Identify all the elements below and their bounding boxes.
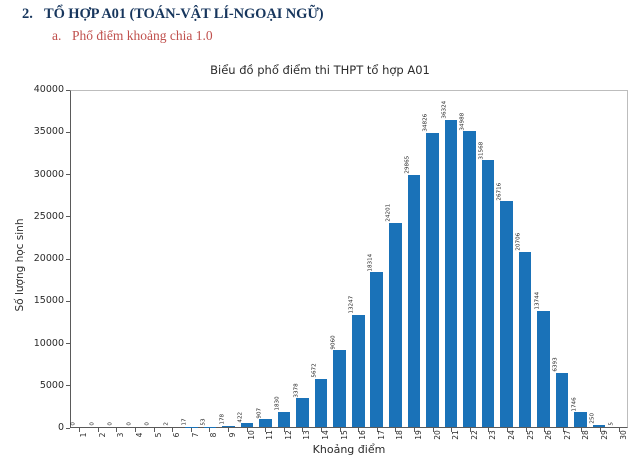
y-axis-tick-label: 15000 bbox=[34, 295, 64, 306]
x-axis-label: Khoảng điểm bbox=[70, 443, 628, 456]
heading-main-number: 2. bbox=[22, 6, 44, 23]
x-axis-tick-mark bbox=[172, 428, 173, 432]
x-axis-tick-label: 18 bbox=[395, 430, 404, 440]
bar-series: 0000021753178422907183033785672906013247… bbox=[71, 91, 627, 427]
document-heading: 2. TỔ HỢP A01 (TOÁN-VẬT LÍ-NGOẠI NGỮ) a.… bbox=[0, 0, 640, 44]
bar-slot: 422 bbox=[238, 91, 257, 427]
bar[interactable]: 34988 bbox=[463, 131, 476, 427]
bar[interactable]: 20706 bbox=[519, 252, 532, 427]
bar-value-label: 34988 bbox=[464, 121, 470, 139]
x-axis-tick-label: 27 bbox=[563, 430, 572, 440]
x-axis-tick-label: 4 bbox=[135, 433, 144, 438]
x-axis-tick-label: 2 bbox=[98, 433, 107, 438]
bar-value-label: 13744 bbox=[538, 301, 544, 319]
bar-slot: 5672 bbox=[312, 91, 331, 427]
bar[interactable]: 178 bbox=[222, 426, 235, 428]
bar[interactable]: 422 bbox=[241, 423, 254, 427]
bar-value-label: 9060 bbox=[334, 342, 340, 356]
bar-value-label: 6393 bbox=[556, 365, 562, 379]
bar-value-label: 907 bbox=[260, 413, 266, 424]
x-axis-tick-label: 28 bbox=[581, 430, 590, 440]
x-axis-tick-mark bbox=[154, 428, 155, 432]
bar[interactable]: 24201 bbox=[389, 223, 402, 427]
bar[interactable]: 18314 bbox=[370, 272, 383, 427]
bar-slot: 1746 bbox=[571, 91, 590, 427]
x-axis-tick-mark bbox=[116, 428, 117, 432]
x-axis-tick-label: 30 bbox=[619, 430, 628, 440]
x-axis-tick-label: 15 bbox=[340, 430, 349, 440]
bar[interactable]: 6393 bbox=[556, 373, 569, 427]
bar-chart: Biểu đồ phổ điểm thi THPT tổ hợp A01 Số … bbox=[0, 58, 640, 465]
bar-slot: 6393 bbox=[553, 91, 572, 427]
bar-slot: 53 bbox=[201, 91, 220, 427]
bar-slot: 9060 bbox=[330, 91, 349, 427]
y-axis-tick-label: 5000 bbox=[40, 380, 64, 391]
y-axis-tick-label: 10000 bbox=[34, 338, 64, 349]
x-axis-tick-label: 7 bbox=[191, 433, 200, 438]
bar[interactable]: 29865 bbox=[408, 175, 421, 427]
bar-slot: 20706 bbox=[516, 91, 535, 427]
bar-slot: 17 bbox=[182, 91, 201, 427]
x-axis-tick-label: 5 bbox=[154, 433, 163, 438]
x-axis-tick-label: 6 bbox=[172, 433, 181, 438]
plot-area: 0000021753178422907183033785672906013247… bbox=[70, 90, 628, 428]
bar-value-label: 29865 bbox=[408, 165, 414, 183]
x-axis-tick-label: 23 bbox=[488, 430, 497, 440]
bar-slot: 0 bbox=[108, 91, 127, 427]
bar-slot: 34988 bbox=[460, 91, 479, 427]
bar-slot: 3378 bbox=[293, 91, 312, 427]
heading-main-text: TỔ HỢP A01 (TOÁN-VẬT LÍ-NGOẠI NGỮ) bbox=[44, 6, 324, 23]
heading-sub-number: a. bbox=[52, 28, 72, 44]
bar-slot: 26716 bbox=[497, 91, 516, 427]
bar-slot: 2 bbox=[164, 91, 183, 427]
x-axis-tick-label: 14 bbox=[321, 430, 330, 440]
x-axis-tick-label: 17 bbox=[377, 430, 386, 440]
x-axis-tick-label: 13 bbox=[302, 430, 311, 440]
x-axis-tick-mark bbox=[135, 428, 136, 432]
x-axis-tick-label: 1 bbox=[79, 433, 88, 438]
x-axis-tick-label: 22 bbox=[470, 430, 479, 440]
bar-value-label: 1746 bbox=[575, 404, 581, 418]
y-axis-tick-label: 0 bbox=[58, 422, 64, 433]
bar-slot: 1830 bbox=[275, 91, 294, 427]
bar-value-label: 1830 bbox=[279, 403, 285, 417]
x-axis-tick-mark bbox=[209, 428, 210, 432]
heading-sub-text: Phổ điểm khoảng chia 1.0 bbox=[72, 28, 213, 44]
bar[interactable]: 31568 bbox=[482, 160, 495, 427]
x-axis-tick-label: 25 bbox=[526, 430, 535, 440]
bar[interactable]: 3378 bbox=[296, 398, 309, 427]
x-axis-tick-label: 11 bbox=[265, 430, 274, 440]
bar-slot: 36324 bbox=[442, 91, 461, 427]
bar-value-label: 24201 bbox=[390, 213, 396, 231]
bar[interactable]: 907 bbox=[259, 419, 272, 427]
bar-slot: 34826 bbox=[423, 91, 442, 427]
x-axis-tick-label: 21 bbox=[451, 430, 460, 440]
bar-slot: 178 bbox=[219, 91, 238, 427]
bar[interactable]: 1830 bbox=[278, 412, 291, 427]
bar-value-label: 26716 bbox=[501, 191, 507, 209]
x-axis-tick-label: 29 bbox=[600, 430, 609, 440]
heading-sub-row: a. Phổ điểm khoảng chia 1.0 bbox=[0, 23, 640, 44]
x-axis-tick-label: 16 bbox=[358, 430, 367, 440]
heading-main-row: 2. TỔ HỢP A01 (TOÁN-VẬT LÍ-NGOẠI NGỮ) bbox=[0, 0, 640, 23]
y-axis-label: Số lượng học sinh bbox=[14, 155, 26, 375]
bar-slot: 31568 bbox=[479, 91, 498, 427]
bar[interactable]: 5672 bbox=[315, 379, 328, 427]
bar-slot: 0 bbox=[71, 91, 90, 427]
bar-slot: 13247 bbox=[349, 91, 368, 427]
bar-slot: 907 bbox=[256, 91, 275, 427]
y-axis-tick-label: 25000 bbox=[34, 211, 64, 222]
bar-value-label: 3378 bbox=[297, 390, 303, 404]
x-axis-tick-label: 20 bbox=[433, 430, 442, 440]
bar-value-label: 18314 bbox=[371, 262, 377, 280]
bar[interactable]: 250 bbox=[593, 425, 606, 427]
bar-value-label: 36324 bbox=[445, 110, 451, 128]
bar-slot: 0 bbox=[90, 91, 109, 427]
bar-slot: 13744 bbox=[534, 91, 553, 427]
bar-slot: 29865 bbox=[405, 91, 424, 427]
bar[interactable]: 36324 bbox=[445, 120, 458, 427]
bar-slot: 5 bbox=[608, 91, 627, 427]
y-axis-tick-label: 20000 bbox=[34, 253, 64, 264]
bar[interactable]: 26716 bbox=[500, 201, 513, 427]
bar[interactable]: 1746 bbox=[574, 412, 587, 427]
bar[interactable]: 13744 bbox=[537, 311, 550, 427]
bar[interactable]: 34826 bbox=[426, 133, 439, 427]
bar-slot: 18314 bbox=[368, 91, 387, 427]
x-axis-tick-label: 24 bbox=[507, 430, 516, 440]
bar[interactable]: 13247 bbox=[352, 315, 365, 427]
x-axis-tick-label: 10 bbox=[247, 430, 256, 440]
bar-slot: 24201 bbox=[386, 91, 405, 427]
bar-value-label: 34826 bbox=[427, 123, 433, 141]
x-axis-tick-label: 8 bbox=[209, 433, 218, 438]
bar-value-label: 31568 bbox=[482, 150, 488, 168]
bar-slot: 0 bbox=[127, 91, 146, 427]
y-axis-tick-label: 35000 bbox=[34, 126, 64, 137]
bar-value-label: 13247 bbox=[353, 305, 359, 323]
x-axis-tick-label: 3 bbox=[116, 433, 125, 438]
y-axis: Số lượng học sinh 0500010000150002000025… bbox=[0, 90, 70, 428]
x-axis-tick-mark bbox=[228, 428, 229, 432]
x-axis-tick-mark bbox=[191, 428, 192, 432]
x-axis-tick-mark bbox=[79, 428, 80, 432]
chart-title: Biểu đồ phổ điểm thi THPT tổ hợp A01 bbox=[0, 63, 640, 77]
x-axis-tick-label: 26 bbox=[544, 430, 553, 440]
x-axis-tick-label: 12 bbox=[284, 430, 293, 440]
bar[interactable]: 9060 bbox=[333, 350, 346, 427]
bar-slot: 250 bbox=[590, 91, 609, 427]
x-axis-tick-label: 9 bbox=[228, 433, 237, 438]
x-axis-tick-mark bbox=[98, 428, 99, 432]
bar-slot: 0 bbox=[145, 91, 164, 427]
y-axis-tick-label: 30000 bbox=[34, 169, 64, 180]
bar-value-label: 422 bbox=[241, 417, 247, 428]
y-axis-tick-label: 40000 bbox=[34, 84, 64, 95]
bar-value-label: 20706 bbox=[519, 242, 525, 260]
x-axis-tick-label: 19 bbox=[414, 430, 423, 440]
bar-value-label: 5672 bbox=[316, 371, 322, 385]
